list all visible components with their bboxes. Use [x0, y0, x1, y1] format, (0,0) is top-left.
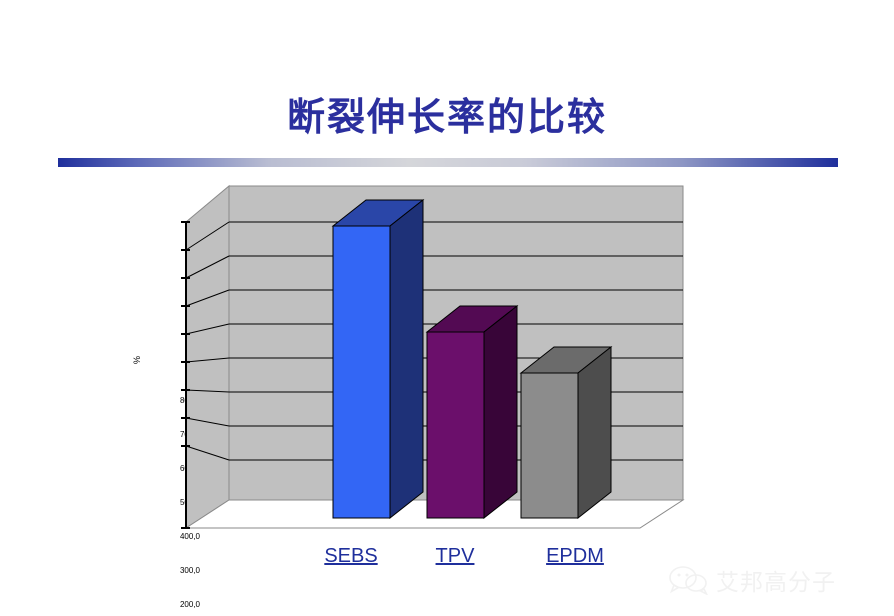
watermark-text: 艾邦高分子	[716, 563, 836, 597]
bar-epdm[interactable]	[521, 347, 611, 518]
bar-sebs[interactable]	[333, 200, 423, 518]
wechat-bubble-icon	[668, 565, 708, 595]
chart-plot-svg	[120, 178, 700, 538]
bar-chart: % 800,0 700,0 600,0 500,0 400,0 300,0 20…	[120, 178, 700, 538]
slide-canvas: 断裂伸长率的比较 % 800,0 700,0 600,0 500,0 400,0…	[0, 0, 894, 616]
category-label-tpv: TPV	[400, 545, 510, 568]
title-divider	[58, 158, 838, 167]
bar-tpv[interactable]	[427, 306, 517, 518]
plot-side-wall	[186, 186, 229, 528]
category-label-epdm: EPDM	[520, 545, 630, 568]
category-label-sebs: SEBS	[296, 545, 406, 568]
watermark: 艾邦高分子	[668, 563, 836, 597]
page-title: 断裂伸长率的比较	[0, 86, 894, 141]
x-axis-categories: SEBS TPV EPDM	[120, 545, 700, 575]
y-tick-label: 200,0	[154, 600, 200, 609]
